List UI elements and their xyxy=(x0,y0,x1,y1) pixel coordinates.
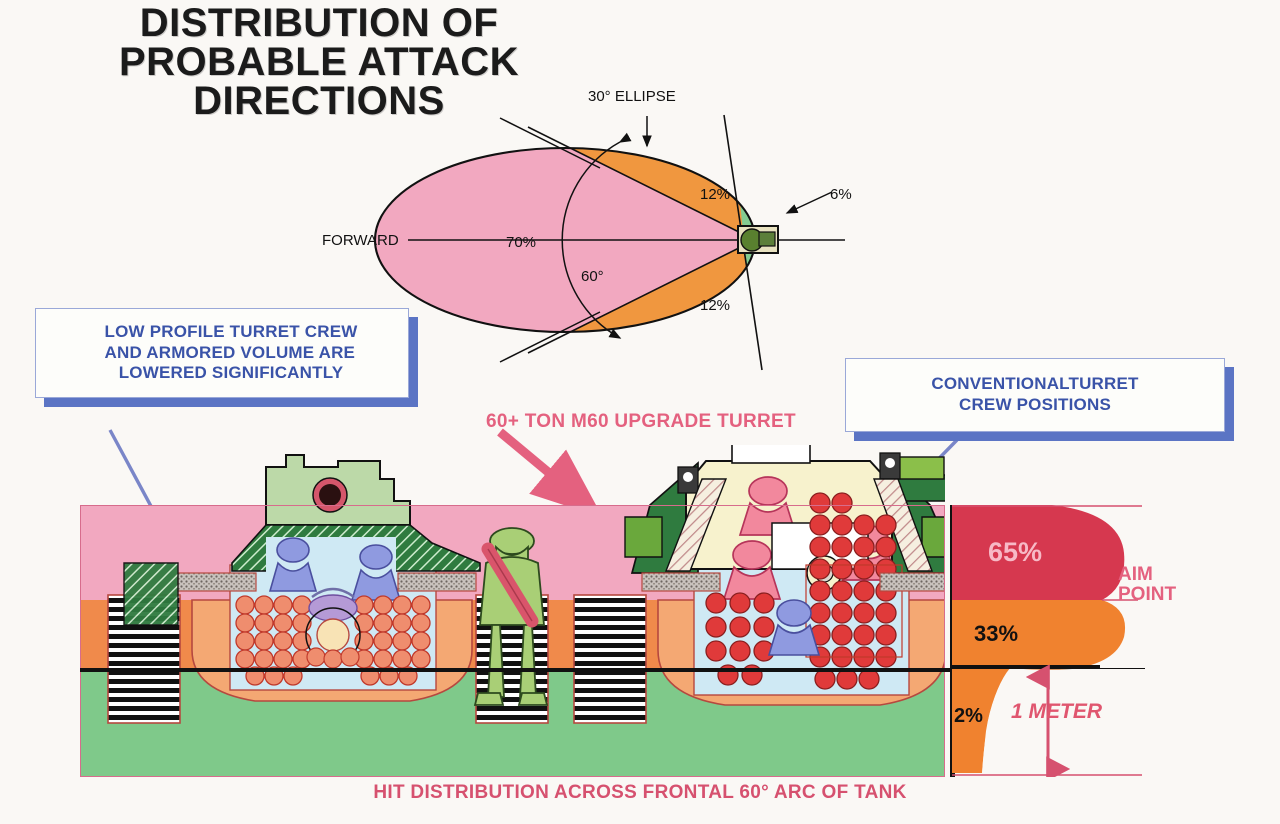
diagram-canvas: DISTRIBUTION OF PROBABLE ATTACK DIRECTIO… xyxy=(0,0,1280,824)
left-tank-low-profile xyxy=(108,455,548,723)
callout-conventional-turret[interactable]: CONVENTIONALTURRET CREW POSITIONS xyxy=(845,358,1225,432)
callout-low-profile-turret[interactable]: LOW PROFILE TURRET CREW AND ARMORED VOLU… xyxy=(35,308,409,398)
callout-right-line-2: CREW POSITIONS xyxy=(931,395,1138,416)
aim-point-line-2: POINT xyxy=(1118,585,1176,605)
percent-65-label: 65% xyxy=(988,537,1042,568)
tank-illustrations xyxy=(80,445,945,785)
one-meter-label: 1 METER xyxy=(1011,700,1102,724)
right-tank-conventional xyxy=(574,445,945,723)
aim-point-label: AIM POINT xyxy=(1118,565,1176,605)
tank-comparison-scene xyxy=(80,505,945,777)
figure-caption: HIT DISTRIBUTION ACROSS FRONTAL 60° ARC … xyxy=(0,782,1280,804)
callout-left-line-2: AND ARMORED VOLUME ARE xyxy=(105,343,358,364)
callout-left-line-1: LOW PROFILE TURRET CREW xyxy=(105,322,358,343)
callout-right-line-1: CONVENTIONALTURRET xyxy=(931,374,1138,395)
percent-2-label: 2% xyxy=(954,705,983,728)
percent-33-label: 33% xyxy=(974,621,1018,647)
hit-distribution-curve: 65% 33% 2% xyxy=(940,505,1190,777)
m60-upgrade-turret-label: 60+ TON M60 UPGRADE TURRET xyxy=(486,411,796,433)
callout-left-line-3: LOWERED SIGNIFICANTLY xyxy=(105,363,358,384)
aim-point-line-1: AIM xyxy=(1118,565,1176,585)
